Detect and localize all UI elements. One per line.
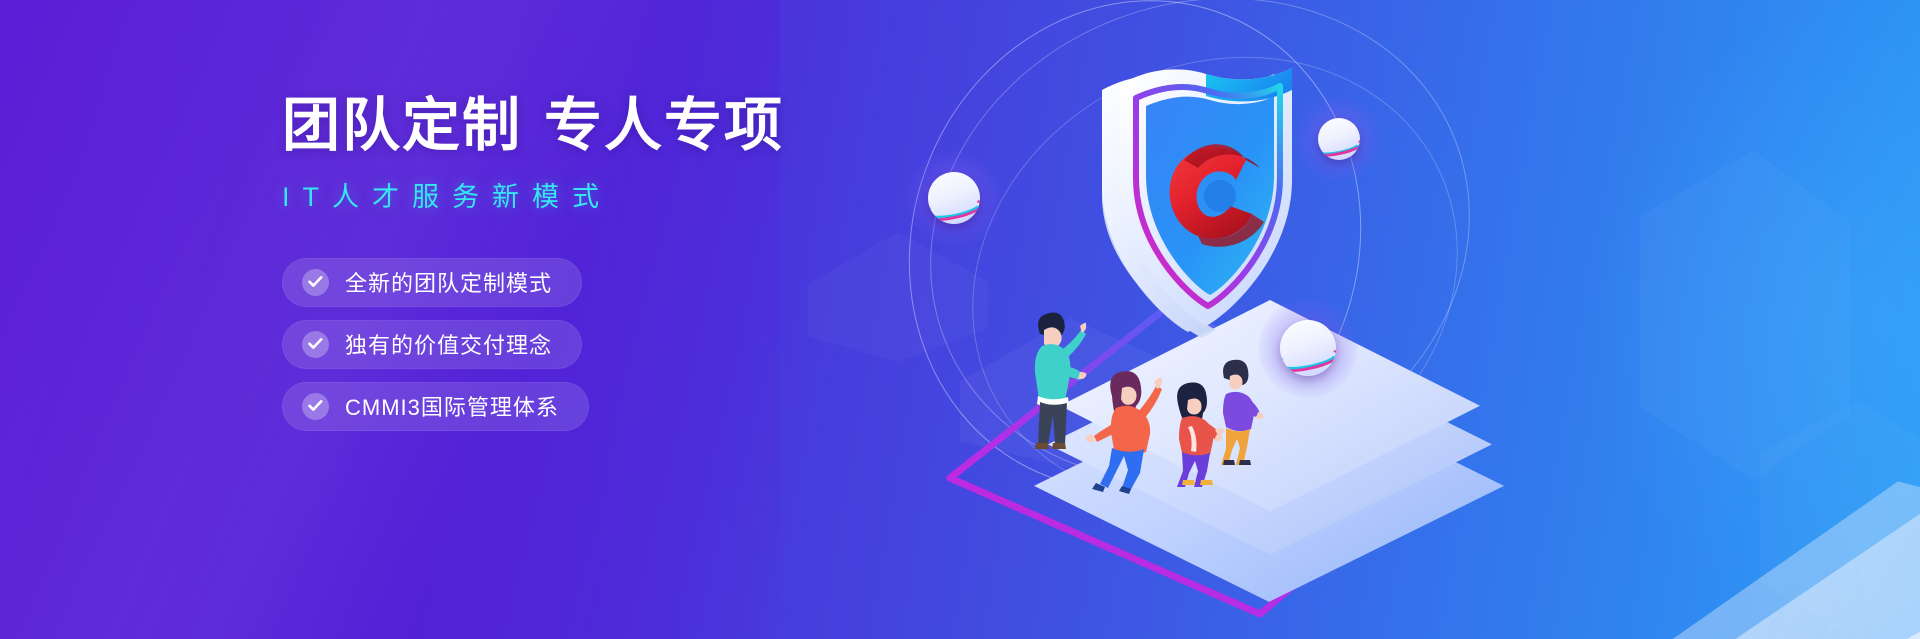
hero-illustration: [820, 0, 1920, 639]
node-sphere-left-icon: [928, 172, 980, 224]
node-sphere-right-icon: [1280, 320, 1336, 376]
check-icon: [302, 269, 329, 296]
feature-pill-1-label: 全新的团队定制模式: [345, 266, 552, 298]
platform-plane-far: [1520, 419, 1920, 639]
headline-part-2: 专人专项: [544, 93, 784, 158]
feature-pill-3-label: CMMI3国际管理体系: [345, 390, 559, 422]
node-sphere-top-right-icon: [1318, 118, 1360, 160]
headline-part-1: 团队定制: [282, 93, 522, 158]
check-icon: [302, 393, 329, 420]
feature-pill-2-label: 独有的价值交付理念: [345, 328, 552, 360]
platform-plane-mid: [1600, 299, 1920, 639]
feature-pill-list: 全新的团队定制模式 独有的价值交付理念 CMMI3国际管理体系: [282, 258, 802, 431]
check-icon: [302, 331, 329, 358]
copy-block: 团队定制专人专项 IT人才服务新模式 全新的团队定制模式 独有的价值交付理念: [282, 96, 802, 431]
feature-pill-2[interactable]: 独有的价值交付理念: [282, 320, 582, 369]
promo-banner: 团队定制专人专项 IT人才服务新模式 全新的团队定制模式 独有的价值交付理念: [0, 0, 1920, 639]
page-subtitle: IT人才服务新模式: [282, 175, 802, 214]
page-title: 团队定制专人专项: [282, 96, 802, 157]
person-teal-shirt: [1012, 300, 1086, 450]
person-purple-shirt: [1206, 350, 1266, 470]
platform-plane-near: [1700, 419, 1920, 639]
feature-pill-1[interactable]: 全新的团队定制模式: [282, 258, 582, 307]
feature-pill-3[interactable]: CMMI3国际管理体系: [282, 382, 589, 431]
